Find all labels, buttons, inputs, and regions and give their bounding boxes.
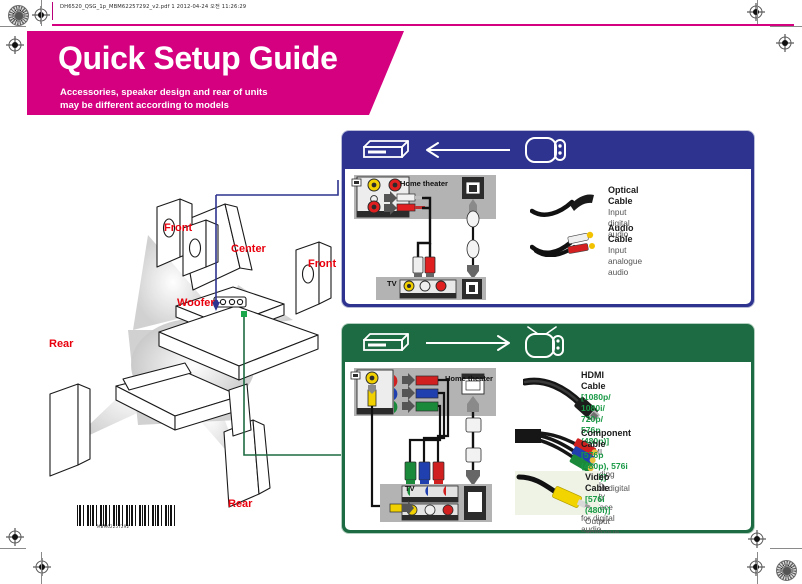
page-canvas: DH6520_QSG_1p_MBM62257292_v2.pdf 1 2012-… [0,0,802,584]
audio-cable-desc: Input analogue audio [608,245,642,278]
optical-cable-title: Optical Cable [608,185,639,207]
trim-line-top-left-vertical [41,0,42,26]
video-tv-label: TV [405,484,415,493]
speaker-label-front-right: Front [308,258,336,270]
speaker-label-woofer: Woofer [177,297,215,309]
trim-line-top-right-horizontal [770,26,802,27]
component-cable-title: Component Cable [581,428,631,450]
barcode-number: MBM62257292 [97,524,129,529]
speaker-label-front-left: Front [164,222,192,234]
audio-panel-body: Home theater TV Optical Cable Input digi… [345,169,751,304]
file-slug-text: DH6520_QSG_1p_MBM62257292_v2.pdf 1 2012-… [60,3,246,10]
registration-mark-top-right-inner [776,34,794,52]
audio-connection-diagram [350,173,502,301]
registration-mark-bottom-right-inner [747,558,765,576]
video-panel-header [342,324,754,362]
trim-line-bottom-left-horizontal [0,548,26,549]
page-subtitle: Accessories, speaker design and rear of … [60,86,268,112]
video-connection-panel: Home theater TV HDMI Cable [1080p/ 1080i [342,324,754,533]
speaker-label-rear-right: Rear [228,498,252,510]
audio-connection-panel: Home theater TV Optical Cable Input digi… [342,131,754,307]
banner-top-rule [52,24,794,26]
registration-mark-bottom-left [6,528,24,546]
tv-icon [524,135,568,165]
direction-arrow-right [422,333,514,353]
registration-mark-top-right [747,3,765,21]
page-subtitle-line2: may be different according to models [60,99,268,112]
audio-panel-header [342,131,754,169]
player-icon [360,137,412,163]
video-cable-spec: [576i (480i)] [585,494,619,516]
direction-arrow-left [422,140,514,160]
optical-cable-image [530,189,598,219]
trim-line-bottom-right-vertical [757,552,758,584]
trim-line-top-right-vertical [757,0,758,26]
trim-line-top-left-horizontal [0,26,26,27]
video-home-theater-label: Home theater [445,374,493,383]
player-icon [360,330,412,356]
page-subtitle-line1: Accessories, speaker design and rear of … [60,86,268,99]
registration-mark-bottom-left-inner [33,558,51,576]
trim-line-bottom-left-vertical [41,552,42,584]
slug-divider [52,2,53,20]
video-cable-desc: Output analogue video [585,516,619,533]
barcode [77,505,175,526]
video-connection-diagram [350,366,502,526]
color-rosette-top-left [8,5,29,26]
page-title: Quick Setup Guide [58,40,337,77]
audio-home-theater-label: Home theater [400,179,448,188]
video-panel-body: Home theater TV HDMI Cable [1080p/ 1080i [345,362,751,530]
registration-mark-left-upper [6,36,24,54]
speaker-label-rear-left: Rear [49,338,73,350]
retro-tv-icon [524,326,568,360]
speaker-label-center: Center [231,243,266,255]
banner-angled-notch [369,31,404,115]
page-title-banner: Quick Setup Guide Accessories, speaker d… [27,31,369,115]
audio-cable-image [530,227,598,257]
audio-tv-label: TV [387,279,397,288]
trim-line-bottom-right-horizontal [770,548,802,549]
registration-mark-bottom-right [748,530,766,548]
video-cable-title: Video Cable [585,472,619,494]
hdmi-cable-title: HDMI Cable [581,370,615,392]
color-rosette-bottom-right [776,560,797,581]
audio-cable-title: Audio Cable [608,223,642,245]
